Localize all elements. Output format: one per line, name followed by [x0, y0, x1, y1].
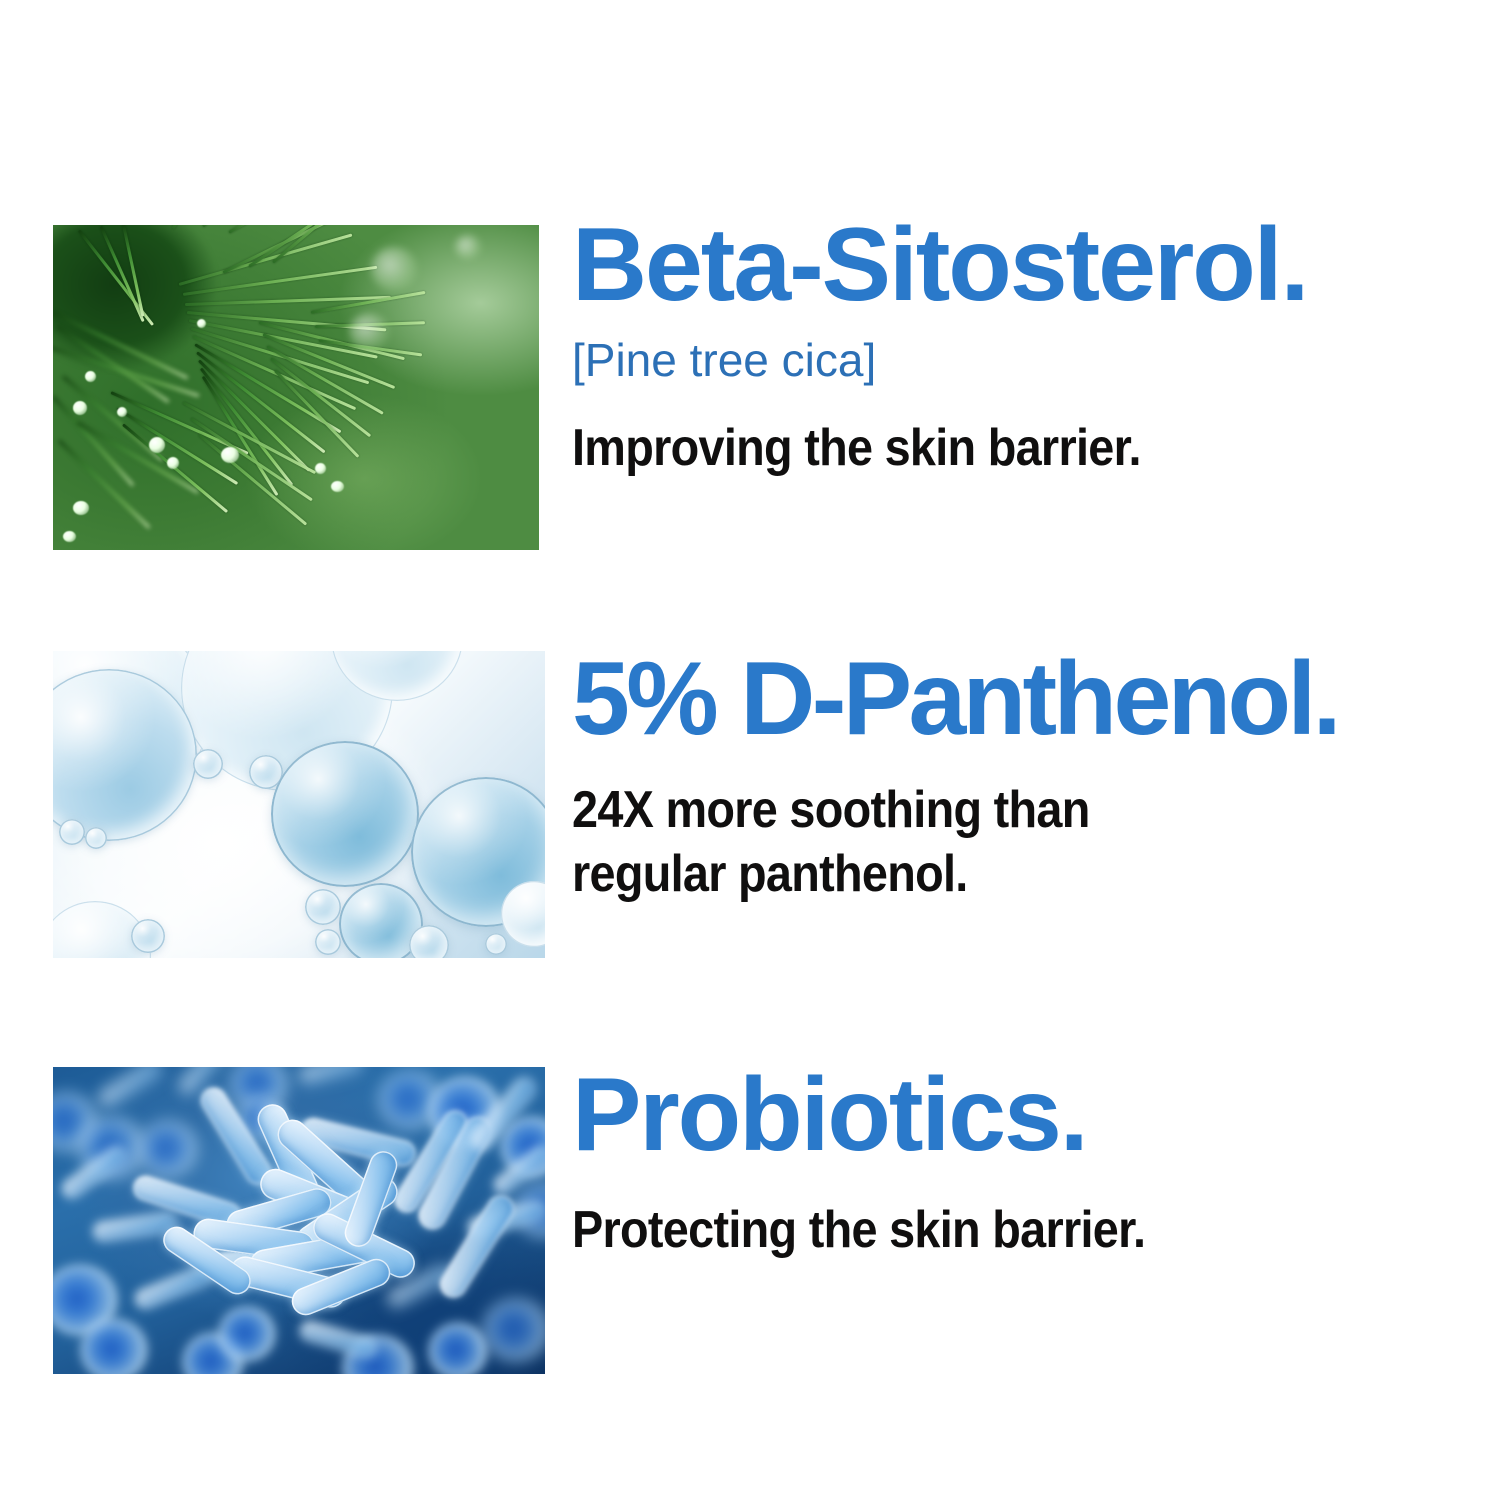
bokeh-highlight — [349, 313, 389, 351]
ingredient-benefit-line: 24X more soothing than — [572, 781, 1407, 839]
bubble — [271, 741, 419, 887]
water-droplet — [167, 457, 179, 469]
water-droplet — [85, 371, 96, 382]
bubble — [315, 929, 341, 955]
water-droplet — [149, 437, 165, 453]
ingredient-headline: Probiotics. — [572, 1063, 1500, 1167]
ingredient-subhead: [Pine tree cica] — [572, 337, 1500, 383]
ingredient-block-d-panthenol: 5% D-Panthenol. 24X more soothing than r… — [0, 651, 1500, 961]
bokeh-highlight — [455, 235, 481, 259]
ingredient-copy: Probiotics. Protecting the skin barrier. — [572, 1067, 1500, 1259]
bacteria-rod — [298, 1067, 364, 1085]
ingredient-headline: Beta-Sitosterol. — [572, 213, 1500, 317]
bacteria-coccus — [483, 1299, 545, 1361]
bubble — [485, 933, 507, 955]
bacteria-coccus — [219, 1307, 275, 1361]
water-droplet — [73, 501, 89, 515]
bacteria-coccus — [81, 1319, 147, 1374]
water-bubbles-photo — [53, 651, 545, 958]
ingredient-benefit-line: regular panthenol. — [572, 845, 1407, 903]
ingredient-block-beta-sitosterol: Beta-Sitosterol. [Pine tree cica] Improv… — [0, 225, 1500, 555]
bubble — [409, 925, 449, 958]
bacteria-rod — [96, 1067, 165, 1110]
bacteria-rod — [298, 1319, 378, 1360]
water-droplet — [117, 407, 127, 417]
water-droplet — [331, 481, 344, 492]
water-droplet — [73, 401, 87, 415]
bubble — [131, 919, 165, 953]
water-droplet — [63, 531, 76, 542]
bubble — [59, 819, 85, 845]
ingredient-copy: Beta-Sitosterol. [Pine tree cica] Improv… — [572, 225, 1500, 477]
water-droplet — [221, 447, 239, 463]
ingredient-benefit-line: Protecting the skin barrier. — [572, 1201, 1407, 1259]
pine-needle — [311, 291, 426, 314]
ingredient-benefit-line: Improving the skin barrier. — [572, 419, 1407, 477]
ingredient-block-probiotics: Probiotics. Protecting the skin barrier. — [0, 1067, 1500, 1377]
bubble — [85, 827, 107, 849]
bacteria-coccus — [139, 1121, 197, 1177]
pine-needle — [198, 433, 307, 525]
bubble — [305, 889, 341, 925]
bubble — [193, 749, 223, 779]
bokeh-highlight — [371, 247, 417, 291]
ingredient-highlights-infographic: Beta-Sitosterol. [Pine tree cica] Improv… — [0, 0, 1500, 1500]
water-droplet — [315, 463, 326, 474]
pine-tree-branch-photo — [53, 225, 539, 550]
ingredient-headline: 5% D-Panthenol. — [572, 647, 1500, 751]
probiotic-bacteria-photo — [53, 1067, 545, 1374]
water-droplet — [197, 319, 206, 328]
bacteria-coccus — [429, 1323, 487, 1374]
ingredient-copy: 5% D-Panthenol. 24X more soothing than r… — [572, 651, 1500, 903]
